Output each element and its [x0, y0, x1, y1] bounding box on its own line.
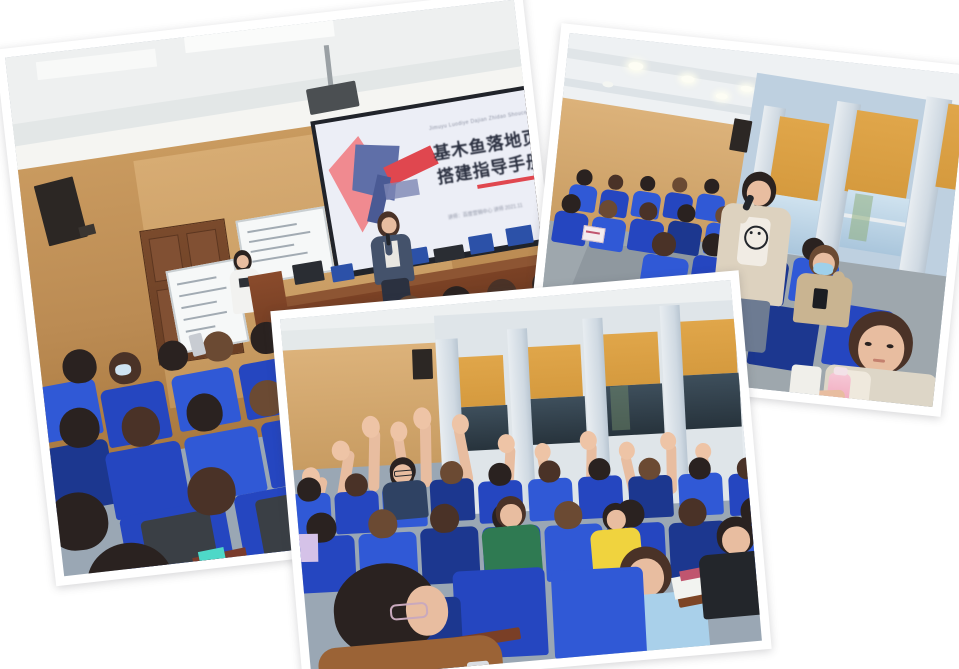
photo-audience-raised-hands[interactable] — [270, 270, 771, 669]
photo-collage: Jimuyu Luodiye Dajian Zhidao Shouce 基木鱼落… — [0, 0, 959, 669]
wristwatch — [467, 661, 490, 669]
foreground-student-with-drink — [815, 305, 946, 407]
photo-audience-raised-hands-scene — [280, 280, 762, 669]
student-black-jacket — [695, 513, 762, 619]
handout-paper — [296, 534, 318, 562]
phone — [188, 332, 206, 357]
seat-name-card — [582, 225, 606, 243]
thermos-cup — [788, 364, 822, 407]
eyeglasses — [389, 602, 428, 621]
